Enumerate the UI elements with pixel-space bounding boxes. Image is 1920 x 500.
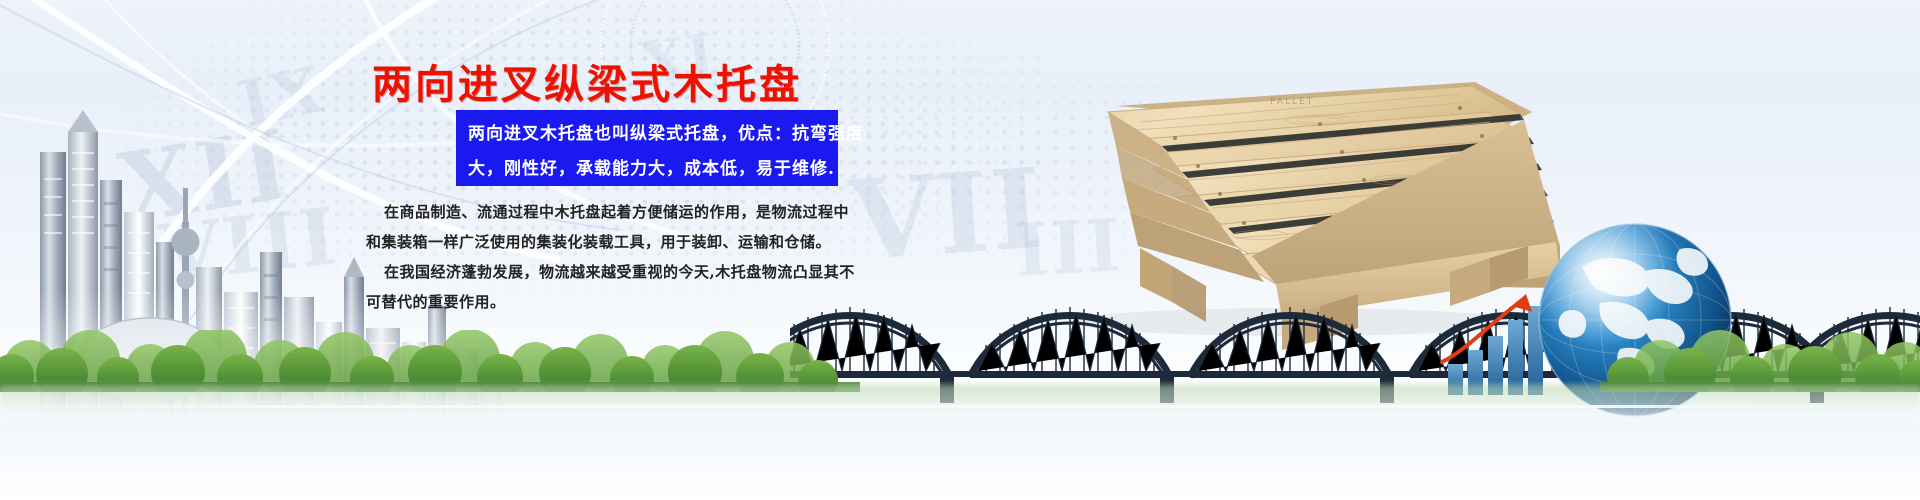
description-paragraph: 和集装箱一样广泛使用的集装化装载工具，用于装卸、运输和仓储。 xyxy=(366,227,926,257)
description-text-block: 在商品制造、流通过程中木托盘起着方便储运的作用，是物流过程中 和集装箱一样广泛使… xyxy=(366,197,926,317)
highlight-line-1: 两向进叉木托盘也叫纵梁式托盘，优点：抗弯强度 xyxy=(468,117,828,152)
water-surface-decor xyxy=(0,380,1920,500)
highlight-line-2: 大，刚性好，承载能力大，成本低，易于维修. xyxy=(468,152,828,187)
description-paragraph: 可替代的重要作用。 xyxy=(366,287,926,317)
page-title: 两向进叉纵梁式木托盘 xyxy=(372,52,802,110)
svg-text:PALLET: PALLET xyxy=(1270,97,1314,107)
description-paragraph: 在商品制造、流通过程中木托盘起着方便储运的作用，是物流过程中 xyxy=(366,197,926,227)
description-paragraph: 在我国经济蓬勃发展，物流越来越受重视的今天,木托盘物流凸显其不 xyxy=(366,257,926,287)
highlight-callout-box: 两向进叉木托盘也叫纵梁式托盘，优点：抗弯强度 大，刚性好，承载能力大，成本低，易… xyxy=(456,110,838,186)
product-banner: XII VIII IX VII III XI xyxy=(0,0,1920,500)
